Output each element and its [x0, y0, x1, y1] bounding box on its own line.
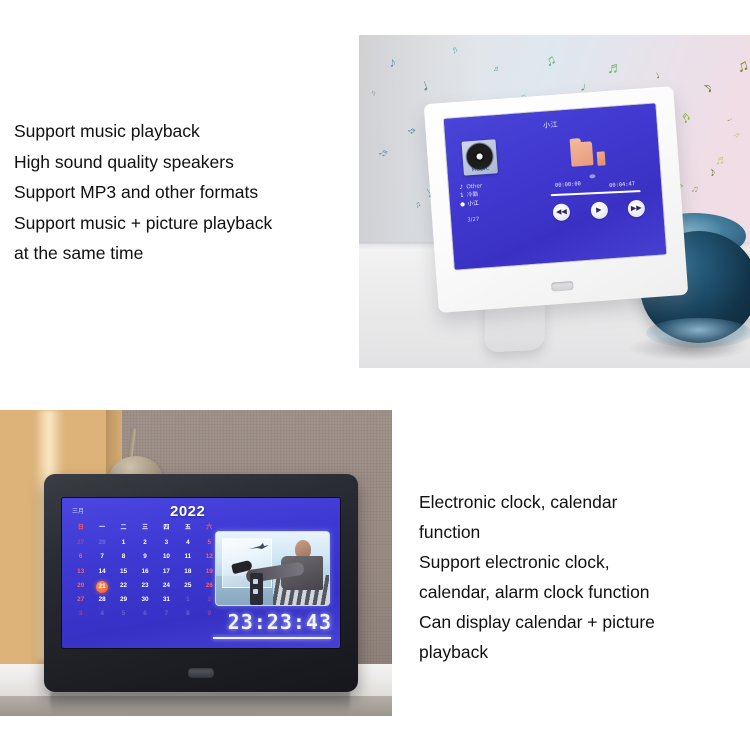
play-button[interactable]: ▶: [590, 201, 608, 219]
music-note-icon: ♬: [715, 153, 728, 166]
music-note-icon: ♫: [543, 51, 558, 68]
playlist-list[interactable]: ♪Other1冷酷●小江: [459, 182, 484, 209]
music-note-icon: ♪: [388, 55, 397, 70]
music-note-icon: ♫: [413, 200, 422, 210]
calendar-day-cell[interactable]: 9: [134, 552, 155, 561]
bottom-feature-line-3: Support electronic clock,: [419, 547, 655, 577]
top-feature-line-2: High sound quality speakers: [14, 147, 272, 178]
bottom-feature-line-1: Electronic clock, calendar: [419, 487, 655, 517]
music-note-icon: ♬: [449, 43, 462, 56]
music-note-icon: ♫: [690, 184, 699, 195]
clock-calendar-product-photo: 三月 2022 日一二三四五六2728123456789101112131415…: [0, 410, 392, 716]
now-playing-title: 小江: [543, 120, 559, 131]
airplane-icon: [248, 542, 270, 552]
top-feature-line-3: Support MP3 and other formats: [14, 177, 272, 208]
play-icon: ▶: [596, 207, 602, 214]
frame-indicator-led: [551, 281, 574, 292]
calendar-year: 2022: [170, 503, 205, 520]
calendar-day-cell[interactable]: 22: [113, 581, 134, 590]
calendar-day-cell[interactable]: 31: [156, 595, 177, 604]
calendar-weekday-header: 五: [177, 524, 198, 533]
clock-underline: [213, 637, 331, 639]
album-art: MUSIC: [462, 139, 498, 175]
playlist-item[interactable]: ●小江: [460, 199, 484, 209]
calendar-day-cell[interactable]: 16: [134, 567, 155, 576]
music-note-icon: ♫: [735, 58, 750, 77]
calendar-day-cell[interactable]: 27: [70, 595, 91, 604]
track-count: 3/27: [467, 217, 480, 224]
calendar-clock-ui: 三月 2022 日一二三四五六2728123456789101112131415…: [62, 498, 340, 648]
bottom-feature-line-6: playback: [419, 637, 655, 667]
total-time: 00:04:47: [609, 181, 635, 189]
bottom-feature-line-5: Can display calendar + picture: [419, 607, 655, 637]
calendar-day-cell[interactable]: 21: [91, 581, 112, 590]
visualizer-dot: [589, 174, 595, 178]
calendar-day-cell[interactable]: 28: [91, 595, 112, 604]
calendar-day-cell[interactable]: 6: [70, 552, 91, 561]
top-feature-line-4: Support music + picture playback: [14, 208, 272, 239]
bottom-feature-text-block: Electronic clock, calendar function Supp…: [419, 487, 655, 667]
calendar-day-cell[interactable]: 3: [156, 538, 177, 547]
calendar-day-cell[interactable]: 4: [177, 538, 198, 547]
calendar-day-cell[interactable]: 10: [156, 552, 177, 561]
calendar-day-cell[interactable]: 4: [91, 609, 112, 618]
frame-reflection: [50, 692, 350, 714]
music-note-icon: ♩: [725, 115, 738, 128]
music-note-icon: ♬: [676, 106, 696, 126]
top-feature-text-block: Support music playback High sound qualit…: [14, 116, 272, 269]
calendar-day-cell[interactable]: 5: [113, 609, 134, 618]
calendar-day-cell[interactable]: 20: [70, 581, 91, 590]
calendar-day-cell[interactable]: 6: [134, 609, 155, 618]
bottom-feature-line-4: calendar, alarm clock function: [419, 577, 655, 607]
music-note-icon: ♬: [377, 145, 394, 162]
product-feature-collage: Support music playback High sound qualit…: [0, 0, 750, 750]
calendar-day-cell[interactable]: 28: [91, 538, 112, 547]
calendar-day-cell[interactable]: 14: [91, 567, 112, 576]
calendar-day-cell[interactable]: 23: [134, 581, 155, 590]
calendar-day-cell[interactable]: 18: [177, 567, 198, 576]
previous-icon: ◀◀: [556, 208, 567, 216]
calendar-weekday-header: 三: [134, 524, 155, 533]
calendar-day-cell[interactable]: 25: [177, 581, 198, 590]
top-feature-line-1: Support music playback: [14, 116, 272, 147]
calendar-day-cell[interactable]: 13: [70, 567, 91, 576]
calendar-day-cell[interactable]: 27: [70, 538, 91, 547]
black-frame-indicator-led: [188, 668, 214, 678]
calendar-day-cell[interactable]: 2: [134, 538, 155, 547]
white-frame-screen: 小江 MUSIC ♪Other1冷酷●小江 3/27 00:00:00 00:0…: [444, 103, 666, 269]
calendar-weekday-header: 四: [156, 524, 177, 533]
music-note-icon: ♩: [419, 73, 441, 95]
calendar-weekday-header: 日: [70, 524, 91, 533]
calendar-day-cell[interactable]: 8: [113, 552, 134, 561]
music-note-icon: ♫: [369, 89, 378, 97]
calendar-day-cell[interactable]: 11: [177, 552, 198, 561]
music-note-icon: ♬: [731, 129, 743, 141]
black-digital-photo-frame: 三月 2022 日一二三四五六2728123456789101112131415…: [44, 474, 358, 692]
picture-in-picture-photo: [215, 531, 330, 606]
top-feature-line-5: at the same time: [14, 238, 272, 269]
calendar-day-cell[interactable]: 7: [156, 609, 177, 618]
bottom-feature-line-2: function: [419, 517, 655, 547]
next-icon: ▶▶: [631, 205, 642, 213]
calendar-weekday-header: 二: [113, 524, 134, 533]
elapsed-time: 00:00:00: [555, 181, 581, 189]
playlist-item-marker: ●: [460, 200, 466, 209]
white-digital-photo-frame: 小江 MUSIC ♪Other1冷酷●小江 3/27 00:00:00 00:0…: [424, 86, 689, 313]
music-note-icon: ♪: [698, 79, 717, 96]
calendar-weekday-header: 一: [91, 524, 112, 533]
progress-bar[interactable]: [551, 190, 641, 196]
calendar-day-cell[interactable]: 24: [156, 581, 177, 590]
calendar-day-cell[interactable]: 29: [113, 595, 134, 604]
calendar-month-label: 三月: [72, 506, 84, 515]
music-note-icon: ♬: [607, 61, 623, 77]
calendar-day-cell[interactable]: 8: [177, 609, 198, 618]
music-note-icon: ♩: [653, 67, 668, 82]
pip-pillar: [250, 573, 263, 605]
visualizer-bar-2: [597, 151, 606, 166]
digital-clock: 23:23:43: [212, 610, 332, 634]
calendar-day-cell[interactable]: 30: [134, 595, 155, 604]
playback-controls[interactable]: ◀◀▶▶▶: [553, 200, 646, 221]
calendar-day-cell[interactable]: 15: [113, 567, 134, 576]
calendar-day-cell[interactable]: 17: [156, 567, 177, 576]
music-note-icon: ♬: [405, 125, 419, 139]
music-note-icon: ♬: [493, 65, 502, 74]
calendar-day-cell[interactable]: 1: [113, 538, 134, 547]
calendar-day-cell[interactable]: 1: [177, 595, 198, 604]
music-player-ui: 小江 MUSIC ♪Other1冷酷●小江 3/27 00:00:00 00:0…: [444, 103, 666, 269]
previous-button[interactable]: ◀◀: [553, 203, 571, 221]
album-art-label: MUSIC: [463, 165, 497, 173]
speaker-shadow: [628, 335, 748, 361]
calendar-today-highlight[interactable]: 21: [96, 581, 108, 593]
next-button[interactable]: ▶▶: [627, 200, 645, 218]
calendar-day-cell[interactable]: 7: [91, 552, 112, 561]
calendar-day-cell[interactable]: 3: [70, 609, 91, 618]
music-playback-product-photo: ♫♪♬♩♫♬♫♪♬♩♫♬♫♪♬♩♫♬♫♪♬♩♫♬♫♪♬♩♫♬♫♪♬♩♫♬♫♪♬♩…: [359, 35, 750, 368]
playlist-item-name: 小江: [467, 199, 479, 208]
calendar-grid[interactable]: 日一二三四五六272812345678910111213141516171819…: [70, 524, 220, 618]
visualizer-bar-1: [570, 141, 594, 167]
black-frame-screen: 三月 2022 日一二三四五六2728123456789101112131415…: [62, 498, 340, 648]
